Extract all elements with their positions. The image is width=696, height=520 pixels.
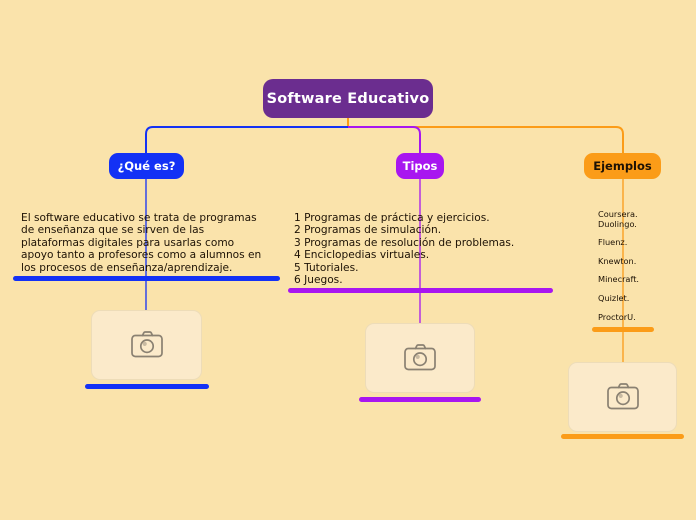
branch-node-tipos-label: Tipos	[403, 159, 438, 173]
ejemplos-list: Coursera. Duolingo. Fluenz. Knewton. Min…	[598, 210, 682, 322]
camera-icon	[403, 344, 437, 372]
list-item: Quizlet.	[598, 294, 682, 304]
quees-image-divider-bar	[85, 384, 209, 389]
branch-node-tipos[interactable]: Tipos	[396, 153, 444, 179]
list-item: 6 Juegos.	[294, 274, 544, 286]
quees-divider-bar	[13, 276, 280, 281]
branch-node-ejemplos-label: Ejemplos	[593, 159, 652, 173]
branch-node-quees-label: ¿Qué es?	[118, 159, 176, 173]
quees-paragraph: El software educativo se trata de progra…	[21, 212, 269, 274]
quees-image-placeholder[interactable]	[91, 310, 202, 380]
tipos-image-placeholder[interactable]	[365, 323, 475, 393]
list-item: 1 Programas de práctica y ejercicios.	[294, 212, 544, 224]
list-item: ProctorU.	[598, 313, 682, 323]
list-item: 2 Programas de simulación.	[294, 224, 544, 236]
mindmap-canvas: Software Educativo ¿Qué es? El software …	[0, 0, 696, 520]
tipos-divider-bar	[288, 288, 553, 293]
root-node-label: Software Educativo	[267, 91, 430, 107]
ejemplos-image-placeholder[interactable]	[568, 362, 677, 432]
tipos-image-divider-bar	[359, 397, 481, 402]
camera-icon	[130, 331, 164, 359]
root-node[interactable]: Software Educativo	[263, 79, 433, 118]
list-item: 3 Programas de resolución de problemas.	[294, 237, 544, 249]
branch-node-ejemplos[interactable]: Ejemplos	[584, 153, 661, 179]
ejemplos-image-divider-bar	[561, 434, 684, 439]
list-item: Knewton.	[598, 257, 682, 267]
list-item: Duolingo.	[598, 220, 682, 230]
list-item: 4 Enciclopedias virtuales.	[294, 249, 544, 261]
list-item: 5 Tutoriales.	[294, 262, 544, 274]
camera-icon	[606, 383, 640, 411]
tipos-list: 1 Programas de práctica y ejercicios. 2 …	[294, 212, 544, 286]
list-item: Minecraft.	[598, 275, 682, 285]
list-item: Fluenz.	[598, 238, 682, 248]
branch-node-quees[interactable]: ¿Qué es?	[109, 153, 184, 179]
ejemplos-divider-bar	[592, 327, 654, 332]
